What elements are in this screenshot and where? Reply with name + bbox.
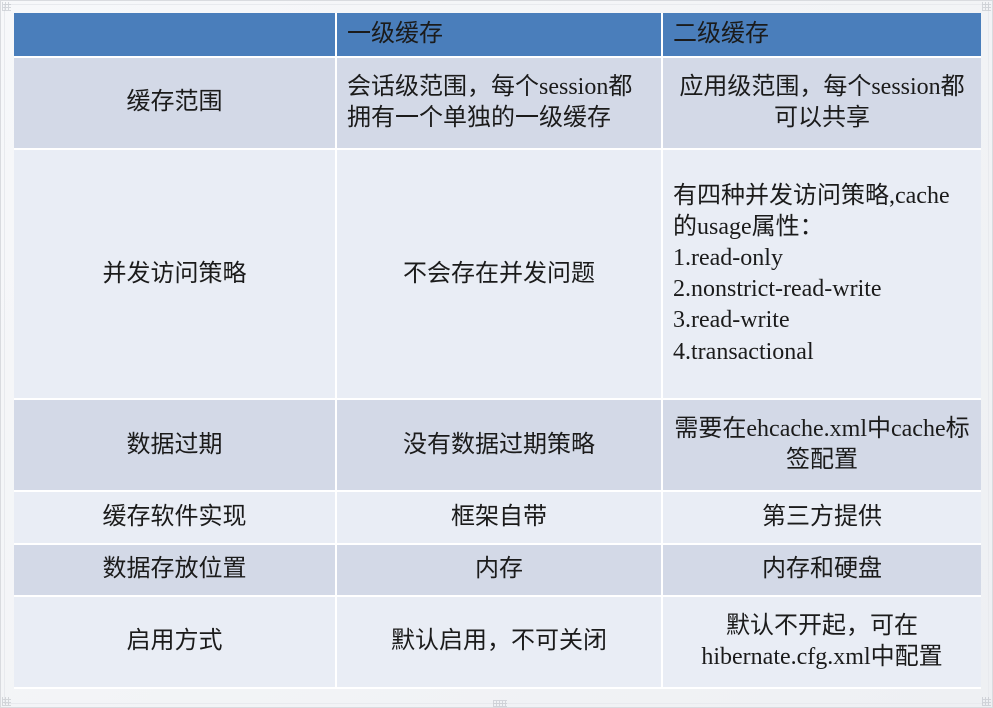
table-row: 缓存范围会话级范围，每个session都拥有一个单独的一级缓存应用级范围，每个s… (14, 57, 981, 149)
cell-level2: 内存和硬盘 (662, 544, 981, 596)
cell-level1: 不会存在并发问题 (336, 149, 662, 399)
cell-level1: 没有数据过期策略 (336, 399, 662, 491)
cache-comparison-table: 一级缓存 二级缓存 缓存范围会话级范围，每个session都拥有一个单独的一级缓… (14, 13, 981, 689)
cell-level1: 会话级范围，每个session都拥有一个单独的一级缓存 (336, 57, 662, 149)
header-cell-feature (14, 13, 336, 57)
cell-level2: 第三方提供 (662, 491, 981, 543)
header-cell-level1: 一级缓存 (336, 13, 662, 57)
comparison-table-container: 一级缓存 二级缓存 缓存范围会话级范围，每个session都拥有一个单独的一级缓… (14, 13, 981, 689)
table-row: 数据存放位置内存内存和硬盘 (14, 544, 981, 596)
resize-handle-bottom-left[interactable] (2, 697, 11, 706)
cell-feature: 数据过期 (14, 399, 336, 491)
cell-level2: 有四种并发访问策略,cache的usage属性：1.read-only2.non… (662, 149, 981, 399)
cell-feature: 启用方式 (14, 596, 336, 688)
cell-feature: 缓存范围 (14, 57, 336, 149)
header-row: 一级缓存 二级缓存 (14, 13, 981, 57)
cell-level1: 框架自带 (336, 491, 662, 543)
cell-feature: 并发访问策略 (14, 149, 336, 399)
table-header: 一级缓存 二级缓存 (14, 13, 981, 57)
cell-level1: 默认启用，不可关闭 (336, 596, 662, 688)
resize-handle-top-right[interactable] (982, 2, 991, 11)
table-body: 缓存范围会话级范围，每个session都拥有一个单独的一级缓存应用级范围，每个s… (14, 57, 981, 688)
table-row: 缓存软件实现框架自带第三方提供 (14, 491, 981, 543)
resize-handle-top-left[interactable] (2, 2, 11, 11)
resize-handle-bottom-right[interactable] (982, 697, 991, 706)
cell-feature: 缓存软件实现 (14, 491, 336, 543)
table-row: 数据过期没有数据过期策略需要在ehcache.xml中cache标签配置 (14, 399, 981, 491)
table-row: 并发访问策略不会存在并发问题有四种并发访问策略,cache的usage属性：1.… (14, 149, 981, 399)
cell-level2: 应用级范围，每个session都可以共享 (662, 57, 981, 149)
resize-handle-bottom-center[interactable] (493, 700, 507, 707)
cell-level1: 内存 (336, 544, 662, 596)
slide-frame: 一级缓存 二级缓存 缓存范围会话级范围，每个session都拥有一个单独的一级缓… (0, 0, 993, 708)
header-cell-level2: 二级缓存 (662, 13, 981, 57)
cell-level2: 默认不开起，可在hibernate.cfg.xml中配置 (662, 596, 981, 688)
cell-feature: 数据存放位置 (14, 544, 336, 596)
table-row: 启用方式默认启用，不可关闭默认不开起，可在hibernate.cfg.xml中配… (14, 596, 981, 688)
cell-level2: 需要在ehcache.xml中cache标签配置 (662, 399, 981, 491)
